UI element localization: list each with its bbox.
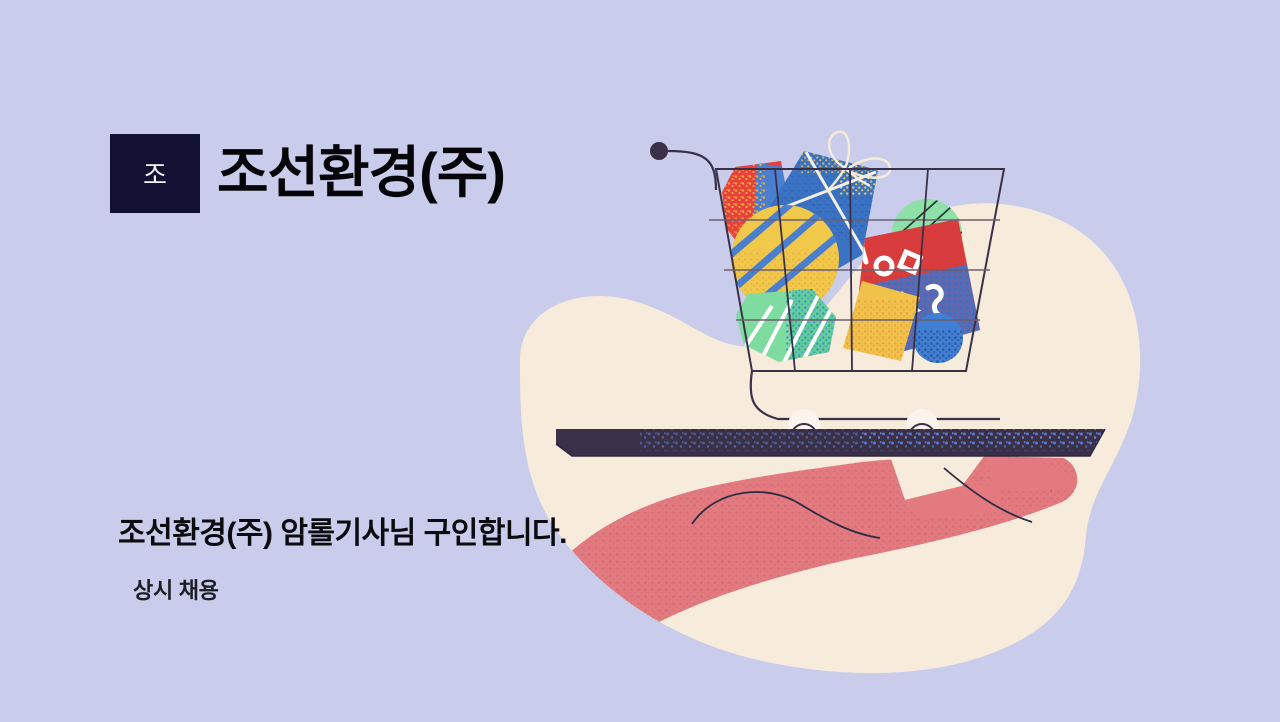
gift-bow (826, 132, 890, 192)
item-blue-ball (912, 313, 967, 370)
item-green-blue-bag (736, 286, 846, 371)
company-header[interactable]: 조 조선환경(주) (110, 133, 505, 213)
cart-wheels (788, 409, 938, 441)
beige-blob (520, 203, 1140, 673)
item-blue-gift-box (760, 132, 890, 298)
shopping-cart-frame (668, 151, 1004, 419)
item-yellow-striped-ball (722, 196, 843, 320)
item-orange-yellow-box (838, 281, 928, 370)
cart-handle-dot (650, 142, 668, 160)
job-posting-card: 조 조선환경(주) 조선환경(주) 암롤기사님 구인합니다. 상시 채용 (0, 0, 1280, 722)
company-logo-badge: 조 (110, 134, 200, 213)
item-green-striped-ball (892, 198, 962, 270)
background (0, 0, 1280, 722)
job-posting-title[interactable]: 조선환경(주) 암롤기사님 구인합니다. (118, 508, 567, 552)
company-name: 조선환경(주) (217, 145, 505, 201)
shelf-bar (556, 427, 1110, 456)
employment-type-label: 상시 채용 (133, 573, 219, 605)
item-red-blue-bag (715, 155, 795, 252)
hand-holding-shelf (552, 455, 1078, 634)
shopping-cart-illustration (0, 0, 1280, 722)
item-red-patterned-bag (850, 219, 995, 366)
